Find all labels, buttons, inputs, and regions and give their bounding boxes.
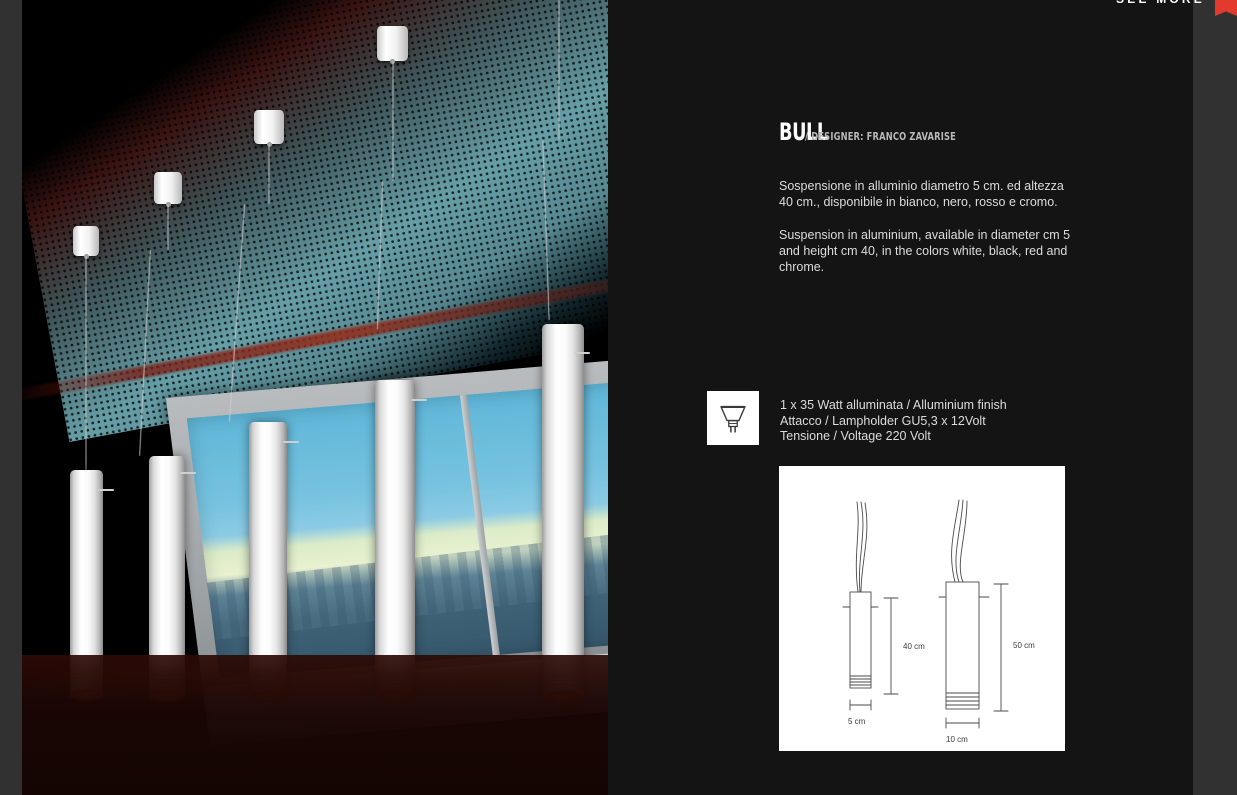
suspension-cable [167, 204, 169, 250]
lamp-mount-pin [180, 472, 196, 474]
product-details-column: BULL / DESIGNER: FRANCO ZAVARISE Sospens… [757, 0, 1193, 795]
dimension-diameter-b: 10 cm [946, 735, 968, 744]
ceiling-canopy [73, 226, 99, 256]
designer-credit: / DESIGNER: FRANCO ZAVARISE [805, 130, 956, 143]
reflector-bulb-icon [707, 391, 759, 445]
product-photo [22, 0, 608, 795]
product-heading: BULL / DESIGNER: FRANCO ZAVARISE [779, 118, 984, 146]
ceiling-canopy [254, 110, 284, 144]
product-description: Sospensione in alluminio diametro 5 cm. … [779, 178, 1079, 275]
specification-lines: 1 x 35 Watt alluminata / Alluminium fini… [780, 391, 1007, 445]
lamp-mount-pin [98, 489, 114, 491]
suspension-cable [85, 256, 87, 470]
content-stage: BULL / DESIGNER: FRANCO ZAVARISE Sospens… [22, 0, 1193, 795]
floor-foreground [22, 655, 608, 795]
lamp-body [542, 324, 584, 700]
corner-ribbon-marker[interactable] [1215, 0, 1237, 16]
spec-line: Tensione / Voltage 220 Volt [780, 429, 1007, 445]
see-more-link[interactable]: SEE MORE [1116, 0, 1205, 6]
technical-drawing-panel: 40 cm 5 cm 50 cm 10 cm [779, 466, 1065, 751]
technical-drawing: 40 cm 5 cm 50 cm 10 cm [779, 466, 1065, 751]
suspension-cable [558, 0, 560, 140]
description-italian: Sospensione in alluminio diametro 5 cm. … [779, 178, 1079, 210]
lamp-body [375, 380, 415, 700]
product-page: BULL / DESIGNER: FRANCO ZAVARISE Sospens… [0, 0, 1237, 795]
suspension-cable [268, 144, 270, 204]
spec-line: 1 x 35 Watt alluminata / Alluminium fini… [780, 398, 1007, 414]
lamp-mount-pin [411, 399, 427, 401]
description-english: Suspension in aluminium, available in di… [779, 227, 1079, 275]
lamp-mount-pin [283, 441, 299, 443]
dimension-diameter-a: 5 cm [848, 717, 866, 726]
suspension-cable [392, 61, 394, 181]
ceiling-canopy [154, 172, 182, 204]
dimension-height-a: 40 cm [903, 642, 925, 651]
ceiling-canopy [377, 26, 408, 61]
spec-line: Attacco / Lampholder GU5,3 x 12Volt [780, 414, 1007, 430]
photo-scene [22, 0, 608, 795]
lamp-mount-pin [574, 352, 590, 354]
dimension-height-b: 50 cm [1013, 641, 1035, 650]
technical-specifications: 1 x 35 Watt alluminata / Alluminium fini… [707, 391, 1007, 445]
